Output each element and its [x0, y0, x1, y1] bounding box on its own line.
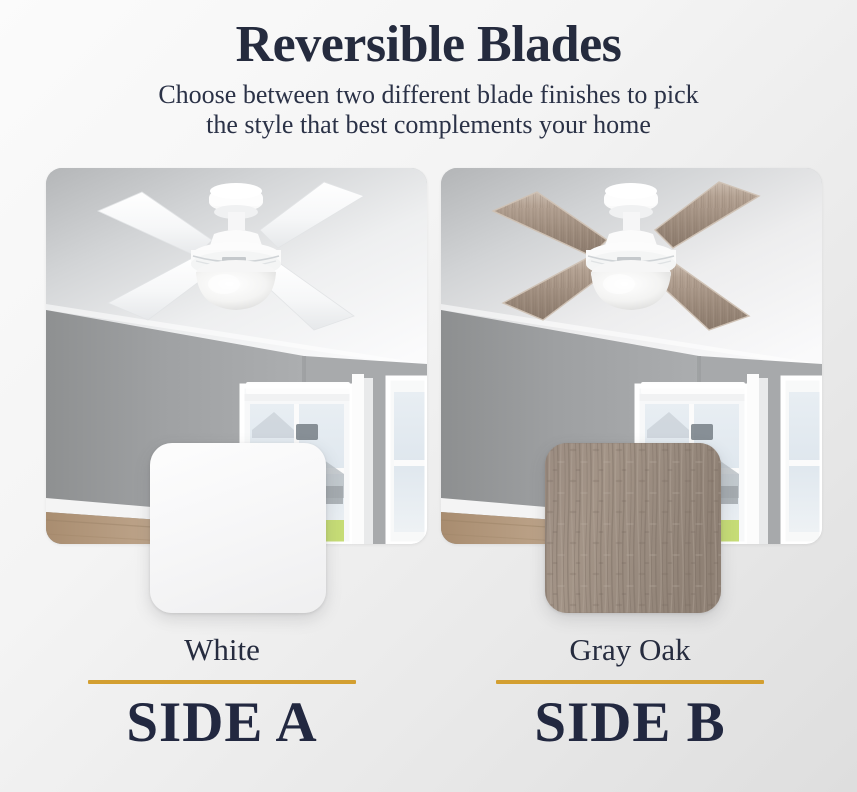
option-captions: White SIDE A Gray Oak SIDE B	[0, 632, 857, 792]
side-label-b: SIDE B	[465, 692, 795, 754]
comparison-panels	[0, 168, 857, 613]
option-panel-side-b	[441, 168, 822, 544]
finish-swatch-white	[150, 443, 326, 613]
subtitle-line-1: Choose between two different blade finis…	[158, 80, 698, 109]
side-label-a: SIDE A	[57, 692, 387, 754]
reversible-blades-infographic: Reversible Blades Choose between two dif…	[0, 0, 857, 792]
option-panel-side-a	[46, 168, 427, 544]
page-subtitle: Choose between two different blade finis…	[0, 80, 857, 140]
finish-name-white: White	[57, 632, 387, 668]
page-title: Reversible Blades	[0, 16, 857, 74]
subtitle-line-2: the style that best complements your hom…	[0, 110, 857, 140]
finish-swatch-gray-oak	[545, 443, 721, 613]
caption-side-b: Gray Oak SIDE B	[465, 632, 795, 754]
gold-divider-left	[88, 680, 356, 684]
gold-divider-right	[496, 680, 764, 684]
caption-side-a: White SIDE A	[57, 632, 387, 754]
header: Reversible Blades Choose between two dif…	[0, 0, 857, 140]
finish-name-gray-oak: Gray Oak	[465, 632, 795, 668]
